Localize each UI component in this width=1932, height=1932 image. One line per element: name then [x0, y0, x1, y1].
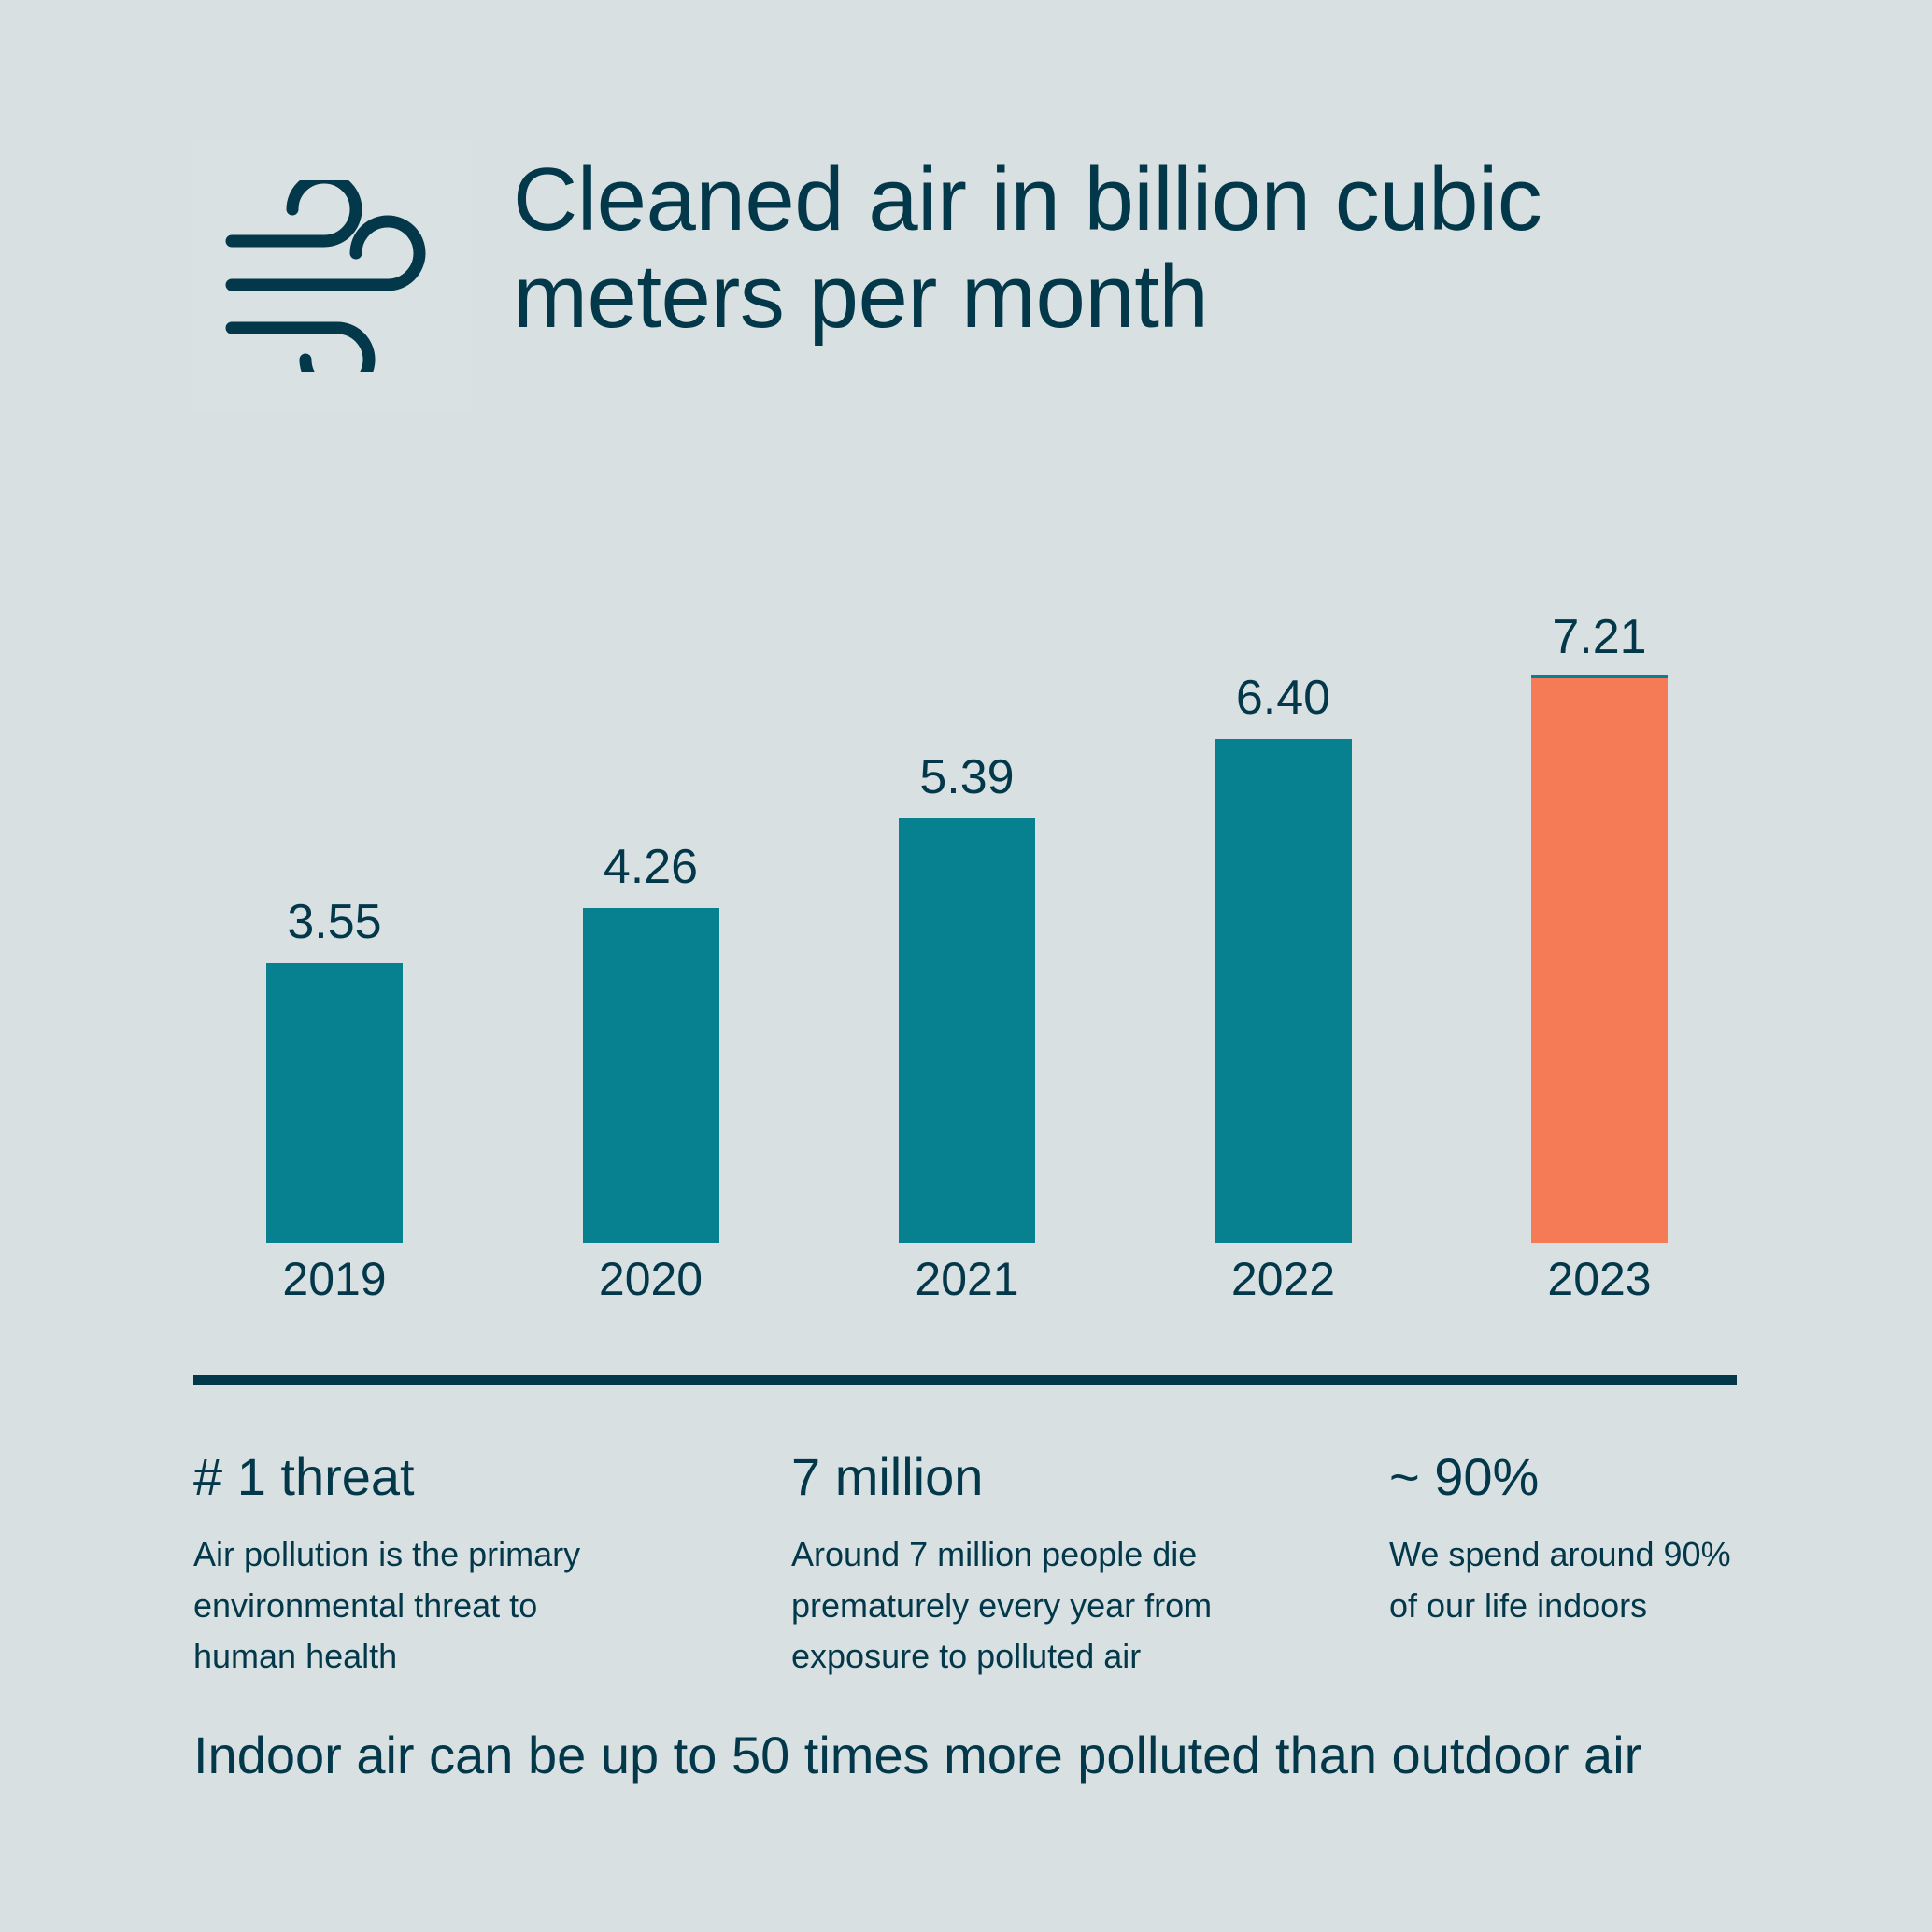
- stat-body: We spend around 90% of our life indoors: [1389, 1529, 1744, 1631]
- stat-body: Around 7 million people die prematurely …: [791, 1529, 1230, 1683]
- bar-category-label: 2019: [282, 1256, 386, 1302]
- section-divider: [193, 1375, 1737, 1385]
- bar[interactable]: 3.55: [266, 963, 403, 1243]
- bar-group: 6.402022: [1141, 598, 1427, 1243]
- bar-value-label: 5.39: [919, 753, 1014, 802]
- stat-heading: # 1 threat: [193, 1450, 791, 1505]
- bar-value-label: 7.21: [1552, 613, 1646, 661]
- stat-body: Air pollution is the primary environment…: [193, 1529, 632, 1683]
- bar-category-label: 2022: [1231, 1256, 1335, 1302]
- bar[interactable]: 5.39: [899, 818, 1035, 1243]
- bar-group: 3.552019: [192, 598, 477, 1243]
- bar-group: 5.392021: [824, 598, 1110, 1243]
- bar-value-label: 4.26: [604, 843, 698, 891]
- chart-plot-area: 3.5520194.2620205.3920216.4020227.212023: [192, 598, 1742, 1243]
- bar-value-label: 6.40: [1236, 674, 1330, 722]
- bar-group: 4.262020: [508, 598, 794, 1243]
- stat-card-1: # 1 threat Air pollution is the primary …: [193, 1450, 791, 1683]
- page-title: Cleaned air in billion cubic meters per …: [513, 140, 1761, 345]
- infographic-page: Cleaned air in billion cubic meters per …: [0, 0, 1932, 1932]
- bar-category-label: 2020: [599, 1256, 703, 1302]
- bar[interactable]: 6.40: [1215, 739, 1352, 1243]
- stat-heading: 7 million: [791, 1450, 1389, 1505]
- bar-group: 7.212023: [1456, 598, 1742, 1243]
- bar-category-label: 2023: [1547, 1256, 1651, 1302]
- bar-category-label: 2021: [915, 1256, 1018, 1302]
- stats-row: # 1 threat Air pollution is the primary …: [193, 1450, 1763, 1683]
- wind-icon: [192, 140, 472, 411]
- bar-chart: 3.5520194.2620205.3920216.4020227.212023: [192, 598, 1742, 1308]
- stat-card-2: 7 million Around 7 million people die pr…: [791, 1450, 1389, 1683]
- stat-heading: ~ 90%: [1389, 1450, 1763, 1505]
- bar[interactable]: 7.21: [1531, 675, 1668, 1243]
- bar[interactable]: 4.26: [583, 908, 719, 1243]
- footer-note: Indoor air can be up to 50 times more po…: [193, 1724, 1782, 1786]
- header: Cleaned air in billion cubic meters per …: [192, 140, 1761, 411]
- stat-card-3: ~ 90% We spend around 90% of our life in…: [1389, 1450, 1763, 1631]
- bar-value-label: 3.55: [287, 898, 381, 946]
